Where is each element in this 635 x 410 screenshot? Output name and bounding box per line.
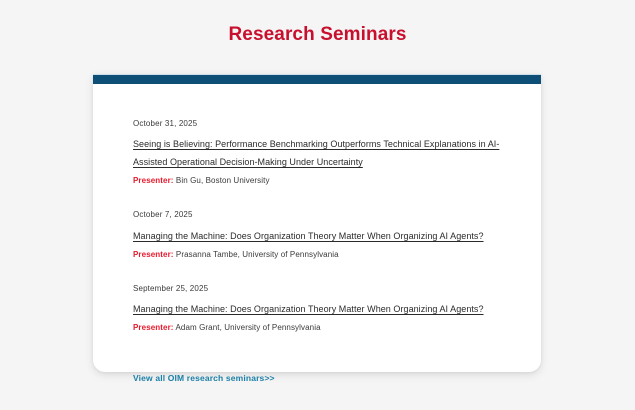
seminar-date: September 25, 2025 xyxy=(133,283,519,294)
list-item: October 31, 2025 Seeing is Believing: Pe… xyxy=(133,118,519,186)
presenter-name: Prasanna Tambe, University of Pennsylvan… xyxy=(176,250,339,259)
seminar-presenter: Presenter: Bin Gu, Boston University xyxy=(133,175,519,186)
page-root: Research Seminars October 31, 2025 Seein… xyxy=(0,0,635,410)
list-item: September 25, 2025 Managing the Machine:… xyxy=(133,283,519,333)
seminars-card: October 31, 2025 Seeing is Believing: Pe… xyxy=(93,74,541,372)
card-accent-bar xyxy=(93,75,541,84)
view-all-wrap: View all OIM research seminars>> xyxy=(93,356,541,386)
seminar-date: October 31, 2025 xyxy=(133,118,519,129)
list-item: October 7, 2025 Managing the Machine: Do… xyxy=(133,209,519,259)
card-body: October 31, 2025 Seeing is Believing: Pe… xyxy=(93,84,541,386)
seminar-list: October 31, 2025 Seeing is Believing: Pe… xyxy=(93,84,541,333)
presenter-label: Presenter: xyxy=(133,176,174,185)
seminar-title-wrap: Seeing is Believing: Performance Benchma… xyxy=(133,134,505,170)
seminar-title-link[interactable]: Seeing is Believing: Performance Benchma… xyxy=(133,139,499,167)
view-all-seminars-link[interactable]: View all OIM research seminars>> xyxy=(133,373,275,383)
seminar-title-wrap: Managing the Machine: Does Organization … xyxy=(133,299,505,317)
seminar-presenter: Presenter: Adam Grant, University of Pen… xyxy=(133,322,519,333)
presenter-label: Presenter: xyxy=(133,323,174,332)
seminar-presenter: Presenter: Prasanna Tambe, University of… xyxy=(133,249,519,260)
presenter-name: Adam Grant, University of Pennsylvania xyxy=(175,323,320,332)
seminar-title-link[interactable]: Managing the Machine: Does Organization … xyxy=(133,231,484,241)
presenter-name: Bin Gu, Boston University xyxy=(176,176,270,185)
page-title: Research Seminars xyxy=(0,24,635,46)
seminar-title-wrap: Managing the Machine: Does Organization … xyxy=(133,226,505,244)
seminar-title-link[interactable]: Managing the Machine: Does Organization … xyxy=(133,304,484,314)
seminar-date: October 7, 2025 xyxy=(133,209,519,220)
presenter-label: Presenter: xyxy=(133,250,174,259)
